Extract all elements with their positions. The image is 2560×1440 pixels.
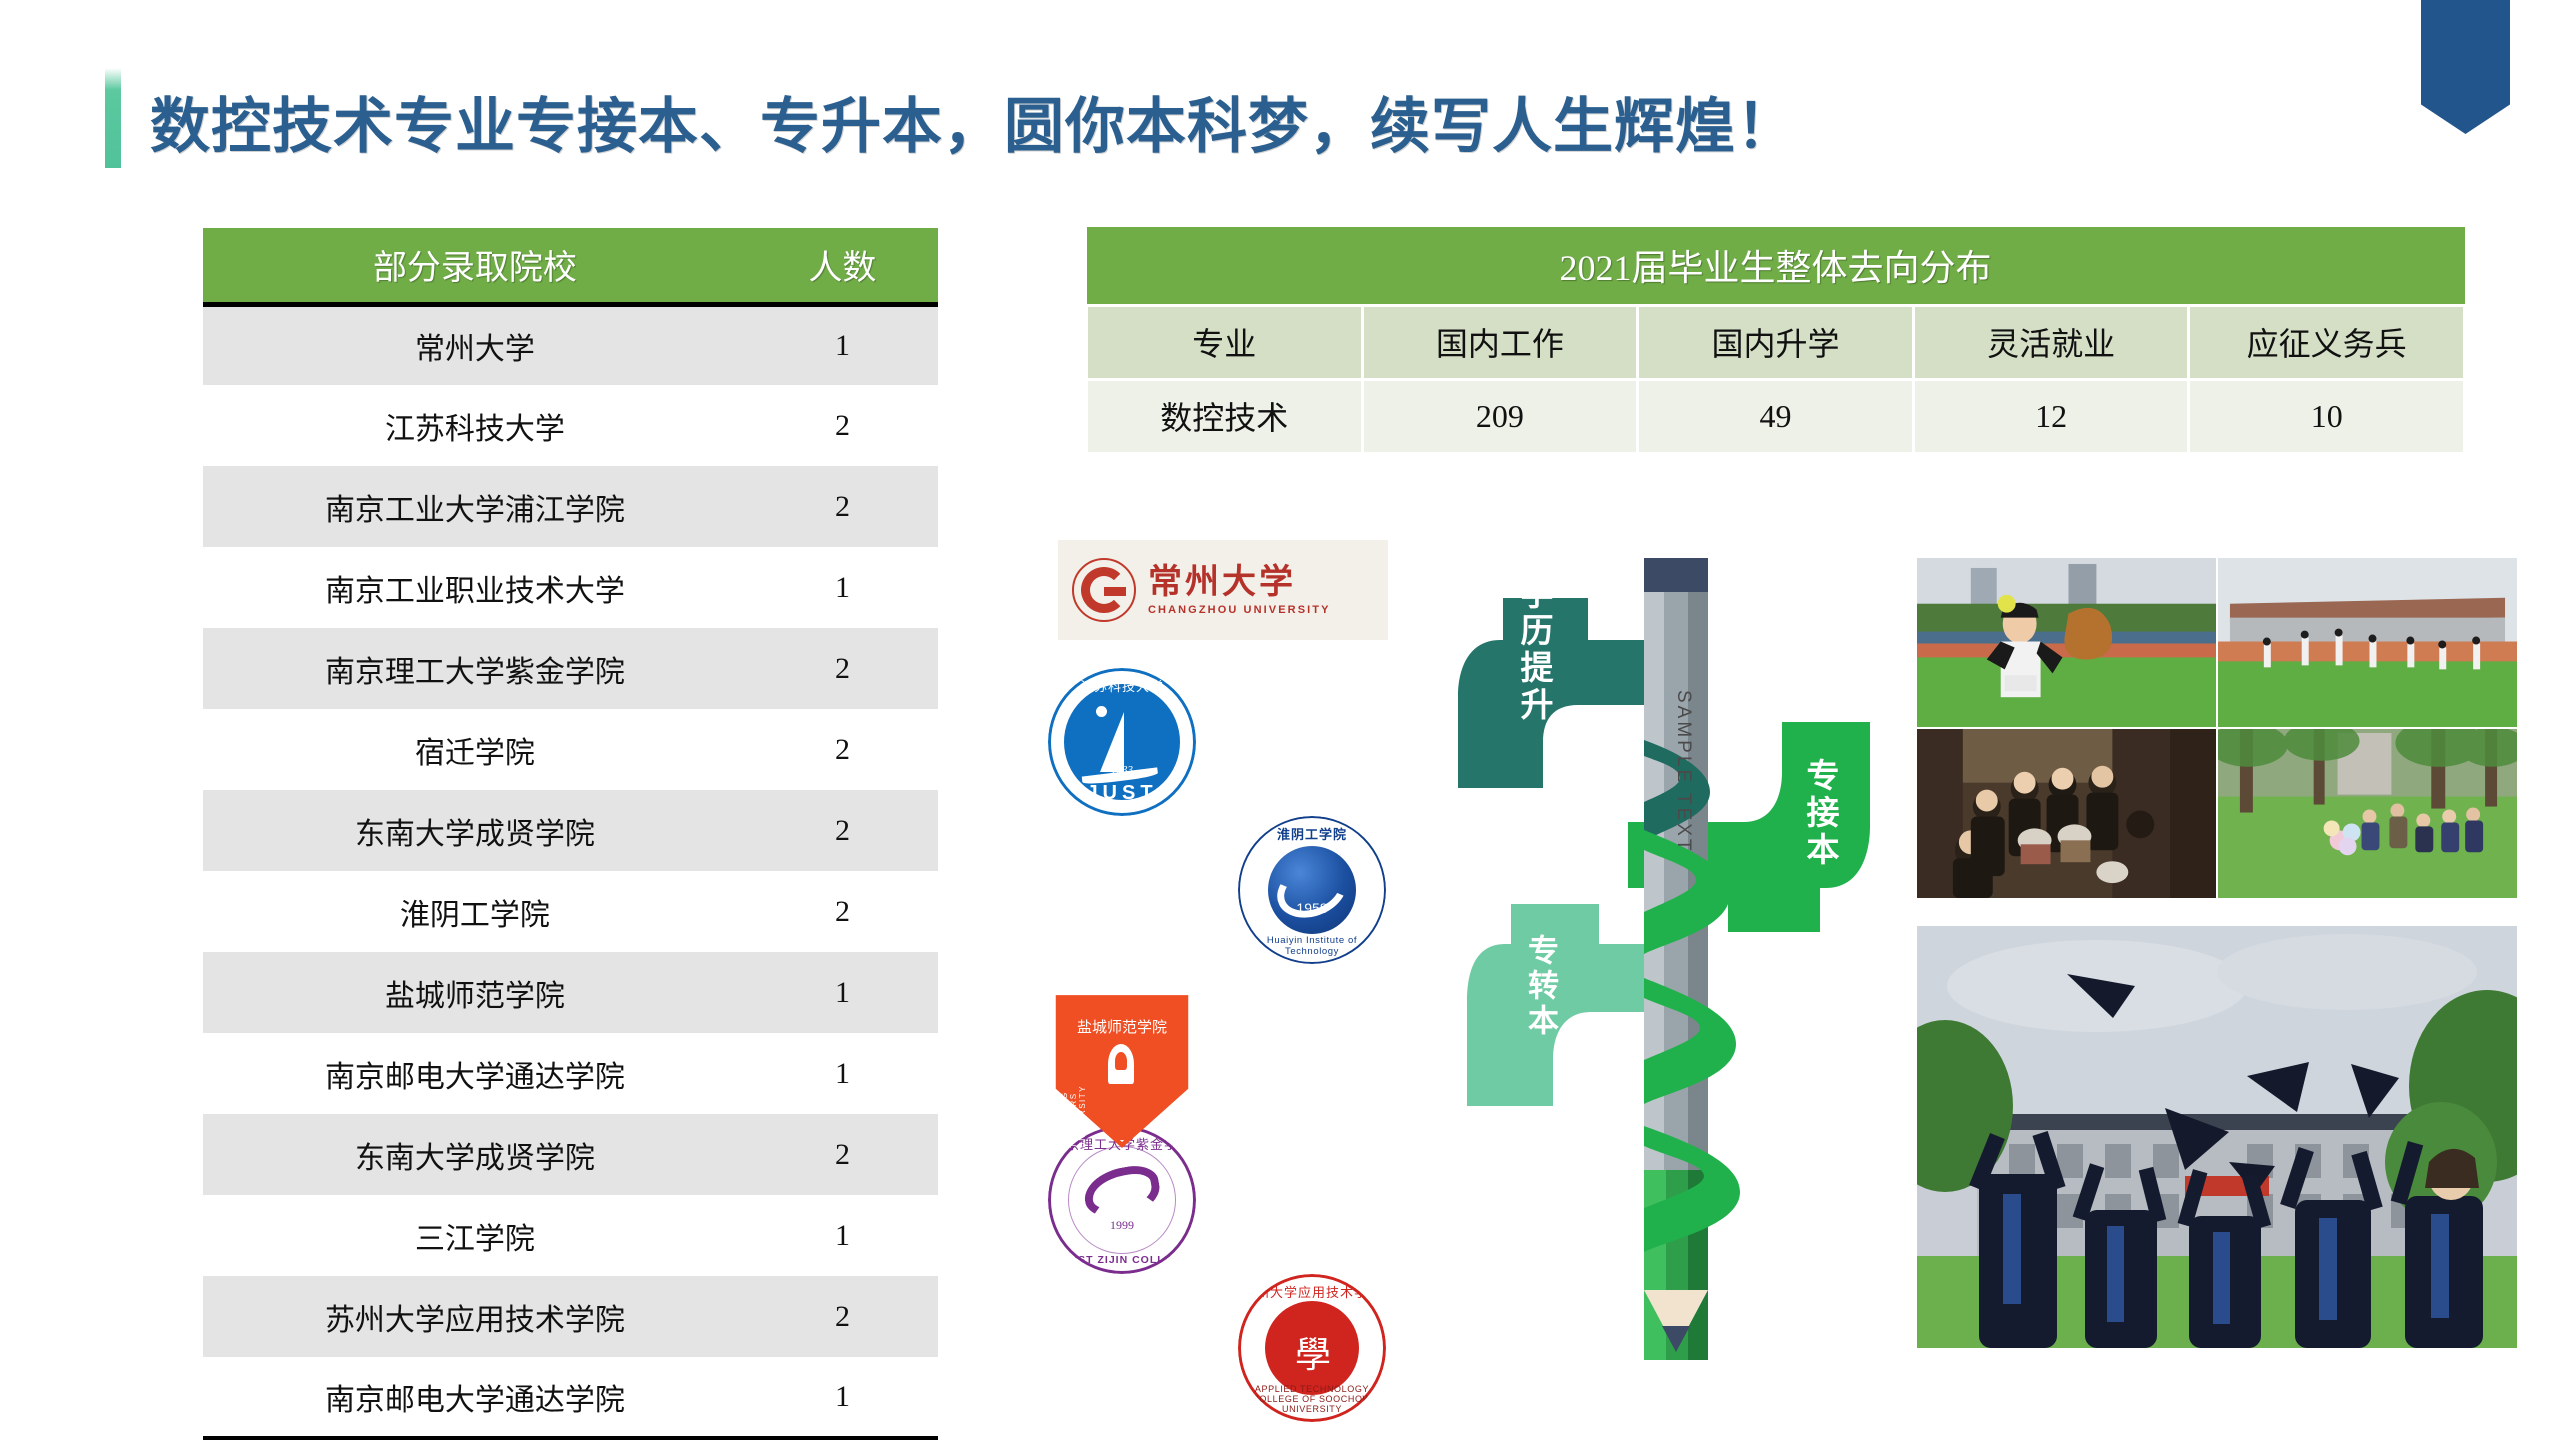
destination-title-row: 2021届毕业生整体去向分布 bbox=[1087, 227, 2465, 305]
soochow-logo-cn: 苏州大学应用技术学院 bbox=[1238, 1282, 1386, 1301]
pencil-green-left bbox=[1644, 1170, 1666, 1360]
destination-column-header-4: 应征义务兵 bbox=[2189, 305, 2465, 379]
destination-cell-domestic_work: 209 bbox=[1362, 379, 1638, 453]
cell-school: 宿迁学院 bbox=[203, 709, 747, 790]
njust-zijin-college-logo: 南京理工大学紫金学院 1999 NJUST ZIJIN COLLEGE bbox=[1048, 1126, 1196, 1274]
changzhou-logo-cn: 常州大学 bbox=[1148, 565, 1331, 599]
cell-school: 南京邮电大学通达学院 bbox=[203, 1033, 747, 1114]
cell-school: 南京邮电大学通达学院 bbox=[203, 1357, 747, 1438]
table-row: 盐城师范学院1 bbox=[203, 952, 938, 1033]
cell-school: 南京理工大学紫金学院 bbox=[203, 628, 747, 709]
cell-count: 2 bbox=[747, 1276, 938, 1357]
just-sailboat-icon bbox=[1100, 712, 1124, 772]
photo-grid-top bbox=[1917, 558, 2517, 898]
arrow-label-zhuan-zhuan-ben: 专转本 bbox=[1518, 934, 1563, 1039]
cell-school: 南京工业大学浦江学院 bbox=[203, 466, 747, 547]
destination-column-header-0: 专业 bbox=[1087, 305, 1363, 379]
changzhou-university-logo: 常州大学 CHANGZHOU UNIVERSITY bbox=[1058, 540, 1388, 640]
cell-count: 2 bbox=[747, 466, 938, 547]
soochow-logo-en: APPLIED TECHNOLOGY COLLEGE OF SOOCHOW UN… bbox=[1238, 1385, 1386, 1415]
just-logo-en: JUST bbox=[1048, 782, 1196, 804]
students-on-lawn-photo bbox=[2218, 729, 2517, 898]
cell-count: 1 bbox=[747, 304, 938, 385]
ribbon-decoration bbox=[2421, 0, 2510, 134]
arrow-label-zhuan-jie-ben: 专接本 bbox=[1796, 758, 1844, 869]
destination-cell-major: 数控技术 bbox=[1087, 379, 1363, 453]
just-logo-year: 1933 bbox=[1048, 764, 1196, 776]
pencil-arrows-graphic: SAMPLE TEXT 学历提升 专转本 专接本 bbox=[1448, 530, 1878, 1360]
team-on-field-photo bbox=[2218, 558, 2517, 727]
destination-column-header-3: 灵活就业 bbox=[1913, 305, 2189, 379]
table-row: 南京工业大学浦江学院2 bbox=[203, 466, 938, 547]
yancheng-teachers-university-logo: 盐城师范学院 YANCHENG TEACHERS UNIVERSITY bbox=[1050, 992, 1194, 1148]
yancheng-logo-en-left: YANCHENG TEACHERS UNIVERSITY bbox=[1060, 1044, 1087, 1148]
table-row: 三江学院1 bbox=[203, 1195, 938, 1276]
table-header-row: 部分录取院校 人数 bbox=[203, 228, 938, 304]
cell-count: 1 bbox=[747, 1033, 938, 1114]
zijin-logo-en: NJUST ZIJIN COLLEGE bbox=[1048, 1255, 1196, 1267]
cell-school: 常州大学 bbox=[203, 304, 747, 385]
table-row: 东南大学成贤学院2 bbox=[203, 790, 938, 871]
table-row: 东南大学成贤学院2 bbox=[203, 1114, 938, 1195]
yancheng-torch-icon bbox=[1108, 1044, 1134, 1084]
huaiyin-institute-technology-logo: 淮阴工学院 1958 Huaiyin Institute of Technolo… bbox=[1238, 816, 1386, 964]
cell-count: 2 bbox=[747, 628, 938, 709]
destination-table-title: 2021届毕业生整体去向分布 bbox=[1087, 227, 2465, 305]
table-row: 南京邮电大学通达学院1 bbox=[203, 1357, 938, 1438]
table-row: 常州大学1 bbox=[203, 304, 938, 385]
arrow-label-xueli-tisheng: 学历提升 bbox=[1510, 576, 1558, 724]
cell-school: 南京工业职业技术大学 bbox=[203, 547, 747, 628]
zijin-logo-year: 1999 bbox=[1048, 1218, 1196, 1233]
cell-count: 2 bbox=[747, 385, 938, 466]
huaiyin-logo-en: Huaiyin Institute of Technology bbox=[1238, 936, 1386, 957]
cell-count: 2 bbox=[747, 871, 938, 952]
table-row: 苏州大学应用技术学院2 bbox=[203, 1276, 938, 1357]
changzhou-logo-en: CHANGZHOU UNIVERSITY bbox=[1148, 604, 1331, 616]
table-row: 宿迁学院2 bbox=[203, 709, 938, 790]
table-row: 南京邮电大学通达学院1 bbox=[203, 1033, 938, 1114]
huaiyin-logo-cn: 淮阴工学院 bbox=[1238, 824, 1386, 843]
cell-count: 2 bbox=[747, 790, 938, 871]
cell-count: 2 bbox=[747, 709, 938, 790]
column-header-school: 部分录取院校 bbox=[203, 228, 747, 304]
destination-table-row: 数控技术209491210 bbox=[1087, 379, 2465, 453]
cell-count: 1 bbox=[747, 1357, 938, 1438]
destination-cell-domestic_study: 49 bbox=[1638, 379, 1914, 453]
soochow-seal-glyph-icon: 學 bbox=[1238, 1326, 1386, 1378]
cell-count: 1 bbox=[747, 547, 938, 628]
cell-school: 江苏科技大学 bbox=[203, 385, 747, 466]
page-title: 数控技术专业专接本、专升本，圆你本科梦，续写人生辉煌！ bbox=[150, 78, 1797, 165]
destination-header-row: 专业国内工作国内升学灵活就业应征义务兵 bbox=[1087, 305, 2465, 379]
huaiyin-logo-year: 1958 bbox=[1238, 900, 1386, 916]
column-header-count: 人数 bbox=[747, 228, 938, 304]
cell-school: 苏州大学应用技术学院 bbox=[203, 1276, 747, 1357]
softball-player-photo bbox=[1917, 558, 2216, 727]
cell-school: 盐城师范学院 bbox=[203, 952, 747, 1033]
cell-school: 淮阴工学院 bbox=[203, 871, 747, 952]
just-logo-cn: 江苏科技大学 bbox=[1048, 676, 1196, 695]
university-logos-group: 常州大学 CHANGZHOU UNIVERSITY 江苏科技大学 1933 JU… bbox=[1048, 540, 1468, 1340]
photo-collage bbox=[1917, 558, 2517, 1348]
table-row: 江苏科技大学2 bbox=[203, 385, 938, 466]
cell-school: 东南大学成贤学院 bbox=[203, 790, 747, 871]
students-drums-photo bbox=[1917, 729, 2216, 898]
cell-school: 三江学院 bbox=[203, 1195, 747, 1276]
cell-count: 1 bbox=[747, 952, 938, 1033]
cell-count: 1 bbox=[747, 1195, 938, 1276]
soochow-applied-technology-logo: 苏州大学应用技术学院 學 APPLIED TECHNOLOGY COLLEGE … bbox=[1238, 1274, 1386, 1422]
cell-count: 2 bbox=[747, 1114, 938, 1195]
table-row: 淮阴工学院2 bbox=[203, 871, 938, 952]
table-row: 南京工业职业技术大学1 bbox=[203, 547, 938, 628]
destination-column-header-2: 国内升学 bbox=[1638, 305, 1914, 379]
graduation-cap-toss-photo bbox=[1917, 926, 2517, 1348]
jiangsu-university-science-technology-logo: 江苏科技大学 1933 JUST bbox=[1048, 668, 1196, 816]
pencil-ferrule bbox=[1644, 558, 1708, 592]
destination-cell-military_service: 10 bbox=[2189, 379, 2465, 453]
title-accent-bar bbox=[105, 68, 121, 168]
destination-table: 2021届毕业生整体去向分布 专业国内工作国内升学灵活就业应征义务兵 数控技术2… bbox=[1085, 227, 2466, 455]
cell-school: 东南大学成贤学院 bbox=[203, 1114, 747, 1195]
pencil-sample-text: SAMPLE TEXT bbox=[1673, 690, 1694, 854]
admissions-table: 部分录取院校 人数 常州大学1江苏科技大学2南京工业大学浦江学院2南京工业职业技… bbox=[203, 228, 938, 1440]
changzhou-seal-icon bbox=[1072, 558, 1136, 622]
destination-column-header-1: 国内工作 bbox=[1362, 305, 1638, 379]
yancheng-logo-cn: 盐城师范学院 bbox=[1050, 1016, 1194, 1037]
destination-cell-flexible_employment: 12 bbox=[1913, 379, 2189, 453]
table-row: 南京理工大学紫金学院2 bbox=[203, 628, 938, 709]
slide-canvas: 数控技术专业专接本、专升本，圆你本科梦，续写人生辉煌！ 部分录取院校 人数 常州… bbox=[0, 0, 2560, 1440]
